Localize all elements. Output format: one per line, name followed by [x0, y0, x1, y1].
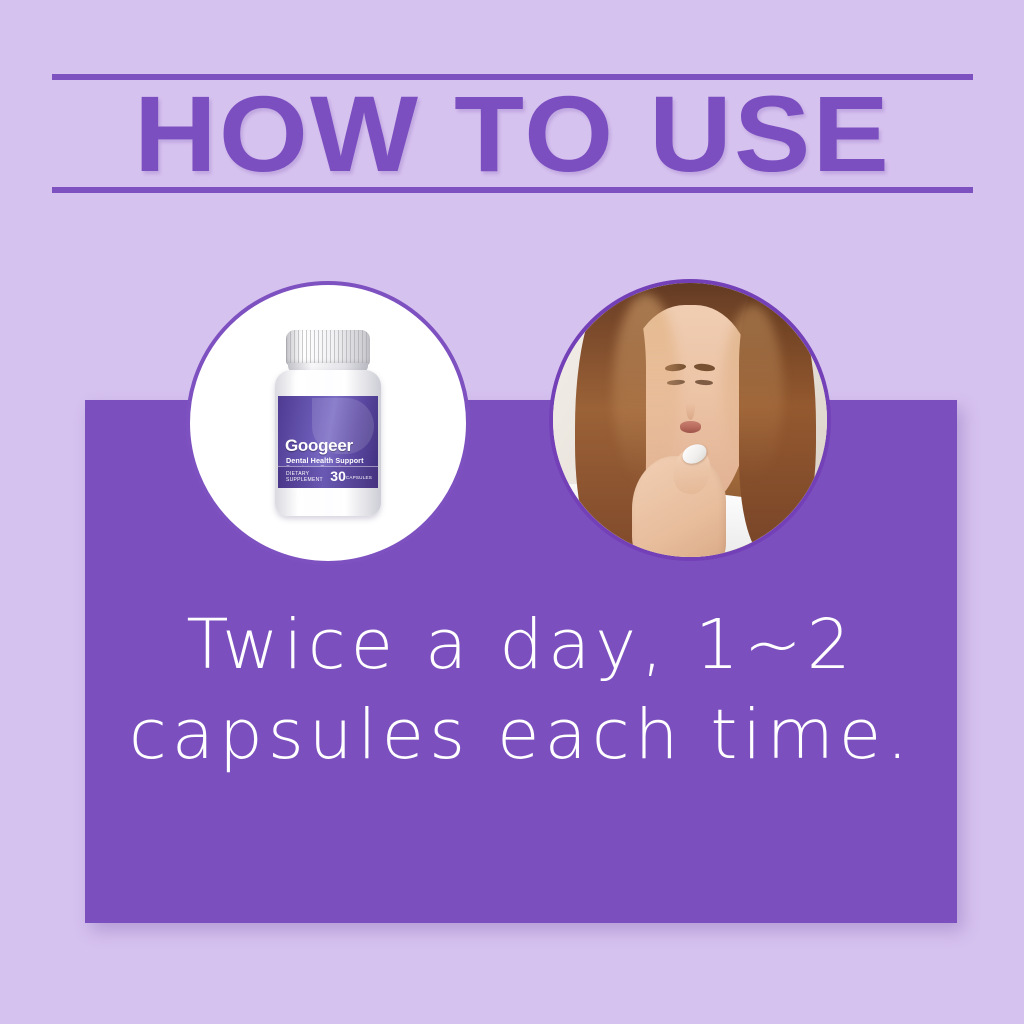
instruction-line-1: Twice a day, 1~2: [85, 600, 957, 690]
eyebrow-right: [693, 363, 715, 372]
woman-taking-capsule-photo: [553, 283, 827, 557]
bottle-cap: [286, 330, 370, 366]
bottle-label: Googeer Dental Health Support Proprietar…: [278, 396, 378, 488]
hair-highlight-right: [723, 305, 783, 480]
product-image-circle: Googeer Dental Health Support Proprietar…: [186, 281, 470, 565]
bottle-dietary-text: DIETARY SUPPLEMENT: [286, 471, 323, 483]
header-divider-bottom: [52, 187, 973, 193]
supplement-bottle-graphic: Googeer Dental Health Support Proprietar…: [275, 330, 381, 516]
bottle-tagline-primary: Dental Health Support: [286, 456, 364, 465]
nose: [686, 392, 695, 420]
bottle-capsule-count: 30CAPSULES: [330, 469, 372, 485]
person-image-circle: [549, 279, 831, 561]
usage-instructions: Twice a day, 1~2 capsules each time.: [85, 600, 957, 780]
bottle-label-footer: DIETARY SUPPLEMENT 30CAPSULES: [278, 466, 378, 488]
lips: [680, 421, 701, 432]
bottle-body: Googeer Dental Health Support Proprietar…: [275, 370, 381, 516]
bottle-brand-name: Googeer: [285, 436, 353, 456]
bottle-count-unit: CAPSULES: [346, 475, 372, 480]
eye-right: [695, 379, 713, 385]
page-title: HOW TO USE: [24, 74, 1000, 193]
bottle-count-number: 30: [330, 468, 346, 484]
poster-canvas: HOW TO USE Googeer Dental Health Support…: [0, 0, 1024, 1024]
instruction-line-2: capsules each time.: [85, 690, 957, 780]
bottle-dietary-line-2: SUPPLEMENT: [286, 477, 323, 483]
